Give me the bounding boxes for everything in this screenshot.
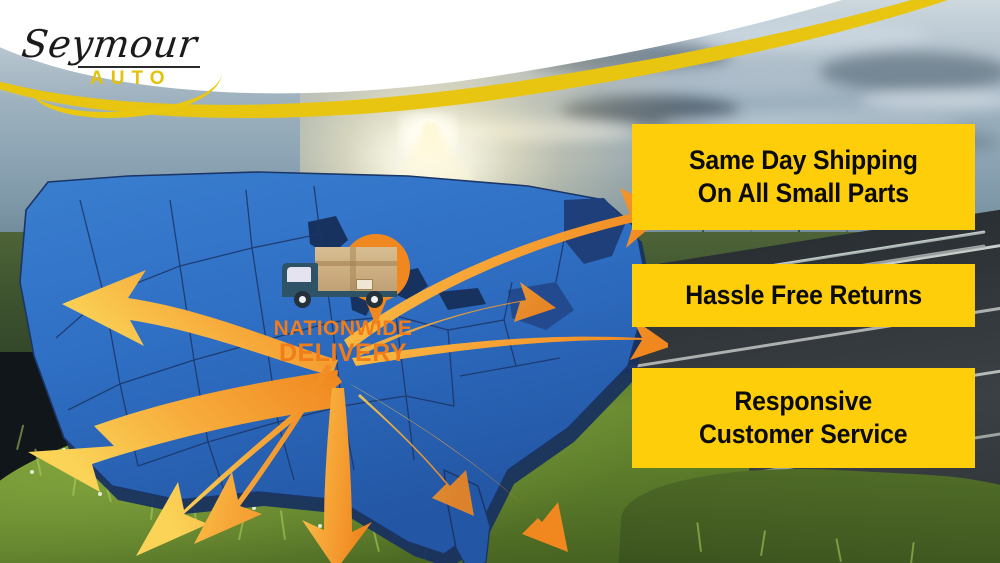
seymour-auto-logo[interactable]: Seymour AUTO <box>22 16 212 94</box>
truck-box-shipping-label <box>356 279 373 290</box>
nationwide-delivery-label: NATIONWIDE DELIVERY <box>258 318 428 366</box>
banner-same-day-shipping-text: Same Day Shipping On All Small Parts <box>689 144 918 210</box>
truck-window <box>287 267 311 282</box>
banner-responsive-customer-service[interactable]: Responsive Customer Service <box>632 368 975 468</box>
truck-box-tape-horizontal <box>315 261 397 266</box>
truck-wheel-rear <box>366 291 383 308</box>
delivery-text: DELIVERY <box>258 341 428 366</box>
logo-wordmark: Seymour <box>19 22 199 66</box>
banner-responsive-customer-service-text: Responsive Customer Service <box>699 385 907 451</box>
banner-same-day-shipping[interactable]: Same Day Shipping On All Small Parts <box>632 124 975 230</box>
delivery-truck-icon <box>282 247 400 309</box>
nationwide-text: NATIONWIDE <box>258 318 428 339</box>
banner-hassle-free-returns[interactable]: Hassle Free Returns <box>632 264 975 327</box>
cloud <box>820 52 1000 92</box>
banner-hassle-free-returns-text: Hassle Free Returns <box>685 279 922 312</box>
truck-wheel-front <box>294 291 311 308</box>
promotional-banner-image: Seymour AUTO <box>0 0 1000 563</box>
